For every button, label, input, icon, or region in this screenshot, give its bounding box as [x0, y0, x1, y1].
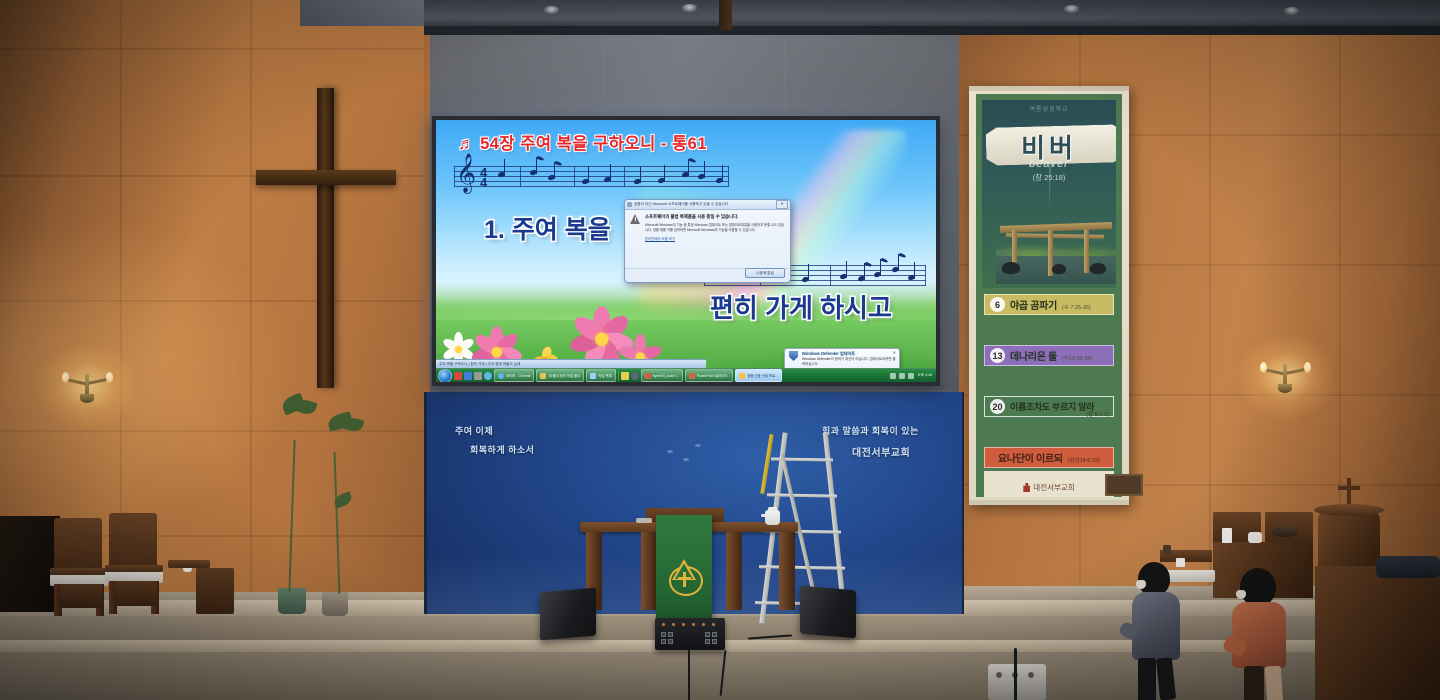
- banner-row-3-number: 20: [990, 399, 1005, 414]
- slide-lyric-line-2: 편히 가게 하시고: [710, 288, 892, 325]
- backdrop-text-left-line1: 주여 이제: [455, 424, 493, 437]
- treble-clef-icon: 𝄞: [456, 158, 476, 188]
- close-icon[interactable]: ✕: [893, 350, 896, 355]
- shield-icon: [788, 351, 799, 362]
- banner-row-4-ref: (삼상14:6-15): [1068, 456, 1100, 467]
- media-player-icon[interactable]: [474, 372, 482, 380]
- plant-pot-2: [322, 592, 348, 616]
- time-signature-bottom: 4: [480, 177, 487, 188]
- person-walking-grey: [1128, 562, 1198, 700]
- powerpoint-window-strip[interactable]: 주여 복을 구하오니 | 편히 가게 | 주의 옆에 머물고 싶네: [436, 359, 706, 368]
- ceiling-soffit: [424, 26, 1440, 35]
- pulpit-leg-right: [779, 532, 795, 610]
- audio-mixer[interactable]: [655, 618, 725, 650]
- taskbar-button-1-label: 새 폴더 정리 작업 폴더: [548, 373, 580, 378]
- banner-row-4: 요나단이 이르되 (삼상14:6-15): [984, 447, 1114, 468]
- wooden-wall-cross: [317, 88, 334, 388]
- cross-crossbar: [256, 170, 396, 185]
- windows-genuine-advantage-dialog[interactable]: 정품이 아닌 Microsoft 소프트웨어를 사용하고 있을 수 있습니다 ✕…: [624, 199, 791, 283]
- banner-row-3: 20 이름조차도 부르지 말라 (창 5:1-2): [984, 396, 1114, 417]
- pulpit-leg-center-left: [641, 532, 657, 610]
- explorer-icon[interactable]: [464, 372, 472, 380]
- banner-row-4-text: 요나단이 이르되: [998, 450, 1063, 465]
- cable-3: [1014, 648, 1017, 700]
- wall-picture-frame: [1105, 474, 1143, 496]
- paper-cup-right: [1222, 528, 1232, 543]
- taskbar-button-5[interactable]: 정품 인증 안내 프로...: [735, 369, 782, 382]
- system-tray[interactable]: 오후 4:45: [890, 373, 934, 379]
- window-icon: [590, 373, 596, 379]
- pulpit-leg-center-right: [726, 532, 742, 610]
- taskbar-button-2-label: 작업 목록: [598, 373, 611, 378]
- white-kettle: [765, 510, 780, 525]
- network-icon[interactable]: [899, 373, 905, 379]
- banner-row-1: 6 야곱 곰파기 (수 7:25-26): [984, 294, 1114, 315]
- right-wood-rail: [1315, 566, 1440, 700]
- banner-rod-bottom: [969, 500, 1129, 505]
- baptismal-cross-horizontal: [1338, 486, 1360, 490]
- tray-disk-icon[interactable]: [631, 372, 639, 380]
- taskbar-button-5-label: 정품 인증 안내 프로...: [747, 373, 778, 378]
- dialog-help-link[interactable]: 온라인에서 도움 보기: [645, 236, 790, 241]
- banner-row-3-ref: (창 5:1-2): [1086, 410, 1109, 421]
- taskbar-button-4[interactable]: PowerPoint 슬라이드..: [685, 369, 734, 382]
- backdrop-text-right-line2: 대전서부교회: [852, 444, 910, 459]
- dialog-later-button[interactable]: 나중에 알림: [745, 268, 785, 278]
- warning-triangle-icon: [739, 373, 745, 379]
- banner-rod-top: [969, 86, 1129, 91]
- banner-row-1-number: 6: [990, 297, 1005, 312]
- stage-speaker-right: [800, 586, 856, 639]
- show-desktop-icon[interactable]: [454, 372, 462, 380]
- screen-content[interactable]: 𝄞 4 4: [436, 120, 936, 382]
- taskbar-button-0[interactable]: 네이버 - Chrome: [494, 369, 534, 382]
- baptismal-font: [1318, 510, 1380, 570]
- windows-taskbar[interactable]: 네이버 - Chrome 새 폴더 정리 작업 폴더 작업 목록 hymn54_…: [436, 368, 936, 382]
- plant-pot-1: [278, 588, 306, 614]
- banner-row-2-number: 13: [990, 348, 1005, 363]
- banner-row-3-text: 이름조차도 부르지 말라: [1010, 400, 1094, 413]
- led-screen[interactable]: 𝄞 4 4: [432, 116, 940, 386]
- banner-row-2-text: 데나리온 둘: [1010, 348, 1057, 363]
- music-staff-top: 𝄞 4 4: [454, 166, 729, 188]
- taskbar-button-0-label: 네이버 - Chrome: [506, 373, 530, 378]
- baptismal-cross-vertical: [1347, 478, 1351, 504]
- shield-icon[interactable]: [908, 373, 914, 379]
- banner-row-1-text: 야곱 곰파기: [1010, 297, 1057, 312]
- beaver-dam-illustration: [996, 204, 1116, 284]
- dialog-titlebar[interactable]: 정품이 아닌 Microsoft 소프트웨어를 사용하고 있을 수 있습니다 ✕: [625, 200, 790, 210]
- white-item-right: [1248, 532, 1262, 543]
- pdf-icon: [645, 373, 651, 379]
- start-orb-icon[interactable]: [438, 369, 452, 383]
- taskbar-button-3-label: hymn54_code 1..: [653, 374, 679, 378]
- banner-top-caption: 여름성경학교: [982, 104, 1116, 113]
- banner-row-2-ref: (눅10:30-35): [1062, 354, 1092, 365]
- sanctuary-photo: 여름성경학교 비버 beaver (창 25:18): [0, 0, 1440, 700]
- dialog-body-text: Microsoft Windows의 기능 중 특정 Windows 업데이트 …: [645, 223, 785, 232]
- taskbar-button-3[interactable]: hymn54_code 1..: [641, 369, 683, 382]
- mic-stand: [688, 650, 690, 700]
- dialog-title: 정품이 아닌 Microsoft 소프트웨어를 사용하고 있을 수 있습니다: [634, 202, 774, 207]
- powerpoint-icon: [689, 373, 695, 379]
- side-cabinet-left: [196, 568, 234, 614]
- ceiling-left-panel: [300, 0, 430, 26]
- backdrop-text-left-line2: 회복하게 하소서: [470, 443, 534, 456]
- close-icon[interactable]: ✕: [776, 200, 788, 209]
- toast-body: Windows Defender의 정의가 최신이 아닙니다. 업데이트하려면 …: [802, 357, 896, 366]
- dialog-heading: 소프트웨어의 불법 복제품을 사용 중일 수 있습니다.: [645, 214, 785, 220]
- wall-trim-strip: [719, 0, 732, 30]
- stage-speaker-left: [540, 588, 596, 641]
- banner-hero-art: 여름성경학교 비버 beaver (창 25:18): [982, 100, 1116, 288]
- banner-footer: 대전서부교회: [976, 482, 1122, 493]
- volume-icon[interactable]: [890, 373, 896, 379]
- offering-bowl: [1272, 527, 1298, 537]
- trinity-cross-emblem: [666, 558, 702, 594]
- taskbar-button-4-label: PowerPoint 슬라이드..: [697, 373, 730, 378]
- small-object-right: [1163, 545, 1171, 554]
- side-table-left: [168, 560, 210, 568]
- chrome-icon: [498, 373, 504, 379]
- shield-icon: [627, 202, 632, 207]
- warning-triangle-icon: [630, 214, 641, 224]
- taskbar-button-1[interactable]: 새 폴더 정리 작업 폴더: [536, 369, 584, 382]
- equipment-case-floor: [988, 664, 1046, 700]
- taskbar-button-2[interactable]: 작업 목록: [586, 369, 615, 382]
- folder-icon: [540, 373, 546, 379]
- wall-sconce-left: [64, 368, 110, 402]
- wall-sconce-right: [1262, 358, 1308, 392]
- church-logo-icon: [1023, 483, 1030, 492]
- slide-title: ♬ 54장 주여 복을 구하오니 - 통61: [458, 130, 707, 154]
- summer-bible-school-banner: 여름성경학교 비버 beaver (창 25:18): [969, 86, 1129, 505]
- slide-lyric-line-1: 1. 주여 복을: [484, 210, 611, 246]
- tray-clock[interactable]: 오후 4:45: [917, 373, 932, 378]
- banner-footer-text: 대전서부교회: [1033, 482, 1074, 493]
- dark-object-right: [1376, 556, 1440, 578]
- banner-row-2: 13 데나리온 둘 (눅10:30-35): [984, 345, 1114, 366]
- banner-row-1-ref: (수 7:25-26): [1062, 303, 1091, 314]
- separator-icon: [618, 371, 619, 381]
- tray-folder-icon[interactable]: [621, 372, 629, 380]
- chrome-icon[interactable]: [484, 372, 492, 380]
- pulpit-item-mic: [636, 518, 652, 523]
- banner-subtitle: beaver: [982, 158, 1116, 170]
- person-walking-orange: [1228, 568, 1304, 700]
- banner-reference: (창 25:18): [982, 172, 1116, 183]
